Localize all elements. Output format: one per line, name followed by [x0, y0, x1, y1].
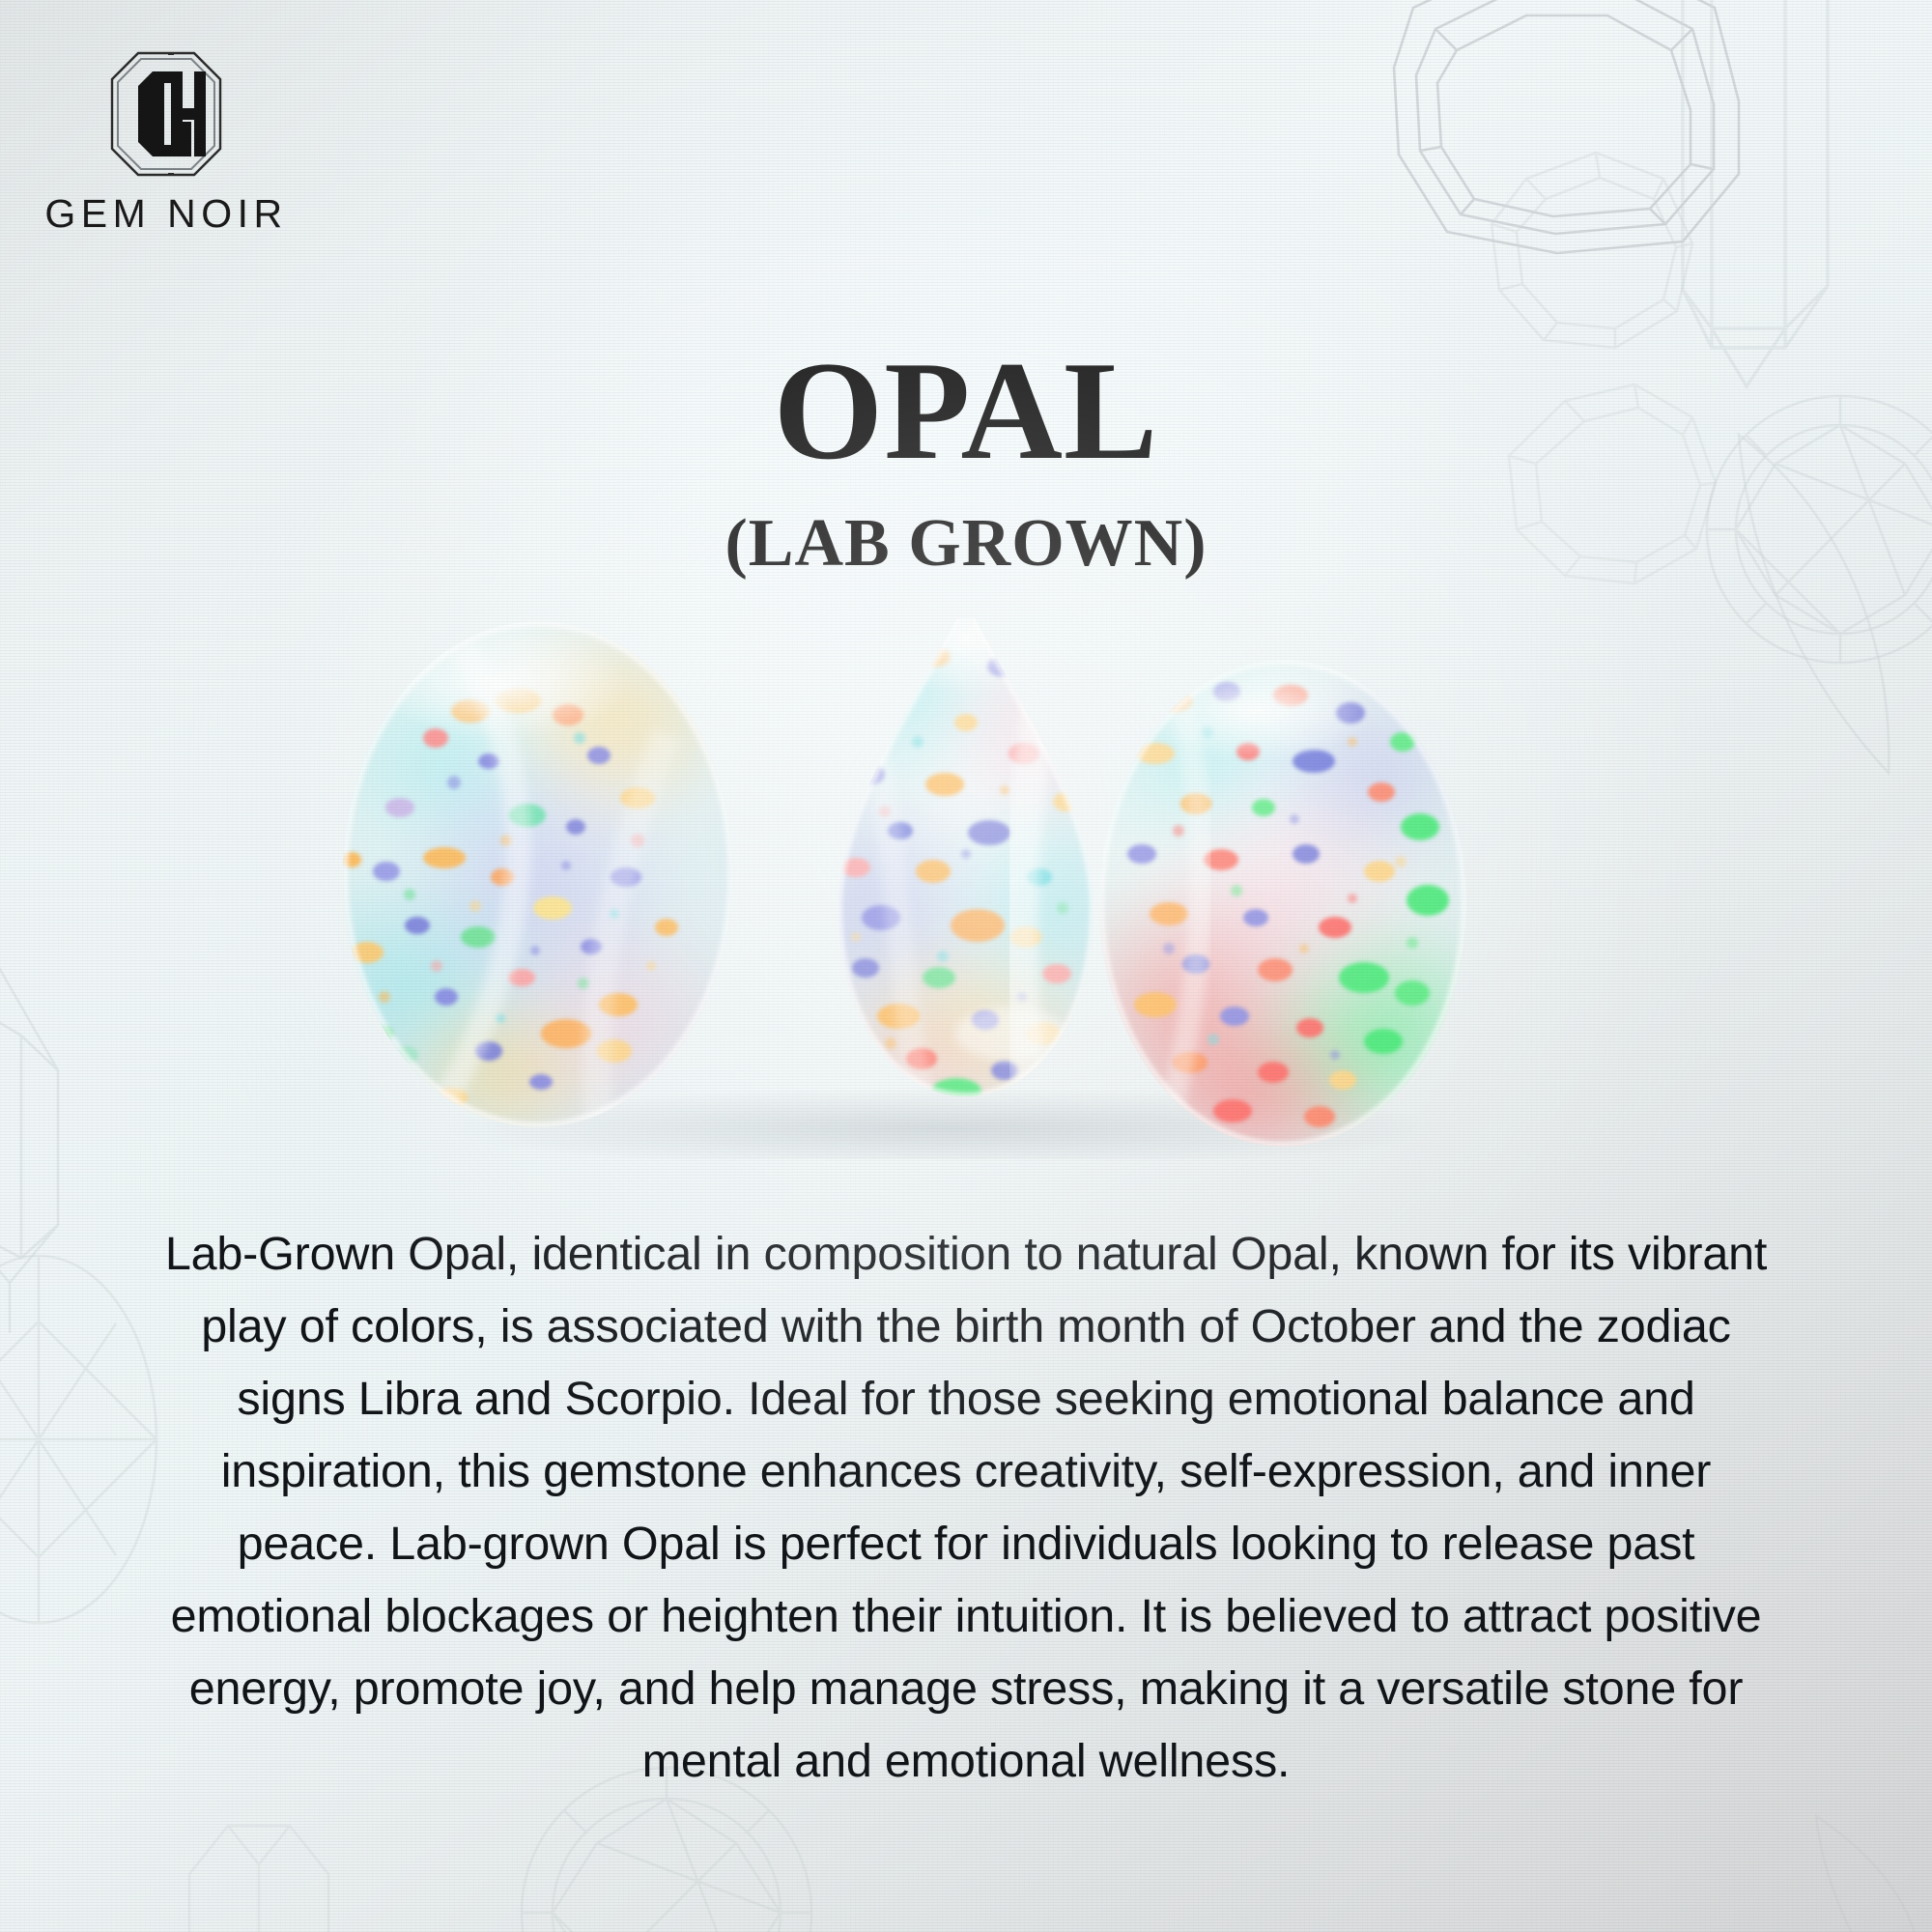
page-title: OPAL — [0, 340, 1932, 481]
watermark-oval-rose-cut-left — [0, 1256, 156, 1623]
brand-lockup: GEM NOIR — [21, 50, 311, 237]
watermark-decagon-top-right — [1492, 153, 1692, 348]
watermark-pear-bottom-right — [1816, 1816, 1920, 1932]
watermark-baguette-crystal-top-right — [1683, 0, 1828, 386]
watermark-emerald-cut-octagon-top-right — [1394, 0, 1739, 253]
title-block: OPAL (LAB GROWN) — [0, 340, 1932, 578]
watermark-pear-bottom-left — [189, 1826, 328, 1932]
page-subtitle: (LAB GROWN) — [0, 510, 1932, 578]
opal-stone-right — [1043, 638, 1517, 1159]
gemstone-illustration — [0, 618, 1932, 1159]
poster-canvas: GEM NOIR OPAL (LAB GROWN) — [0, 0, 1932, 1932]
brand-name: GEM NOIR — [21, 191, 311, 237]
gem-noir-monogram-icon — [109, 50, 223, 178]
gemstone-hero-group — [0, 618, 1932, 1159]
description-paragraph: Lab-Grown Opal, identical in composition… — [145, 1218, 1787, 1798]
opal-stone-left — [261, 618, 763, 1159]
